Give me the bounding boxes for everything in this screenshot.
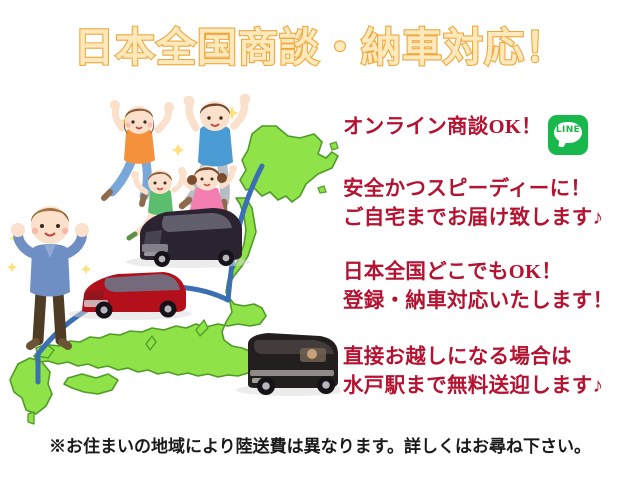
speech-bubble-tail-icon xyxy=(558,138,567,147)
copy-line: 直接お越しになる場合は xyxy=(343,343,603,372)
copy-block-safe-speedy: 安全かつスピーディーに！ ご自宅までお届け致します♪ xyxy=(343,175,603,233)
copy-line: オンライン商談OK！ xyxy=(343,113,542,142)
copy-line: 水戸駅まで無料送迎します♪ xyxy=(343,372,603,401)
copy-line: 安全かつスピーディーに！ xyxy=(343,175,603,204)
copy-block-nationwide: 日本全国どこでもOK！ 登録・納車対応いたします！ xyxy=(343,258,613,316)
black-van-photo xyxy=(236,333,340,396)
copy-line: 登録・納車対応いたします！ xyxy=(343,287,613,316)
black-minivan-photo xyxy=(126,208,250,268)
red-sedan-photo xyxy=(68,272,192,320)
illustration-area xyxy=(0,92,340,432)
line-app-icon[interactable]: LINE xyxy=(548,115,588,155)
copy-block-pickup-service: 直接お越しになる場合は 水戸駅まで無料送迎します♪ xyxy=(343,343,603,401)
page-title: 日本全国商談・納車対応！ xyxy=(0,26,640,70)
cheering-salesman-illustration xyxy=(7,206,91,346)
japan-map-illustration xyxy=(0,92,340,432)
copy-line: 日本全国どこでもOK！ xyxy=(343,258,613,287)
footnote-disclaimer: ※お住まいの地域により陸送費は異なります。詳しくはお尋ね下さい。 xyxy=(0,432,640,457)
copy-line: ご自宅までお届け致します♪ xyxy=(343,204,603,233)
advertisement-banner: 日本全国商談・納車対応！ xyxy=(0,0,640,480)
line-icon-label: LINE xyxy=(548,125,588,135)
copy-block-online-consult: オンライン商談OK！ xyxy=(343,113,542,142)
